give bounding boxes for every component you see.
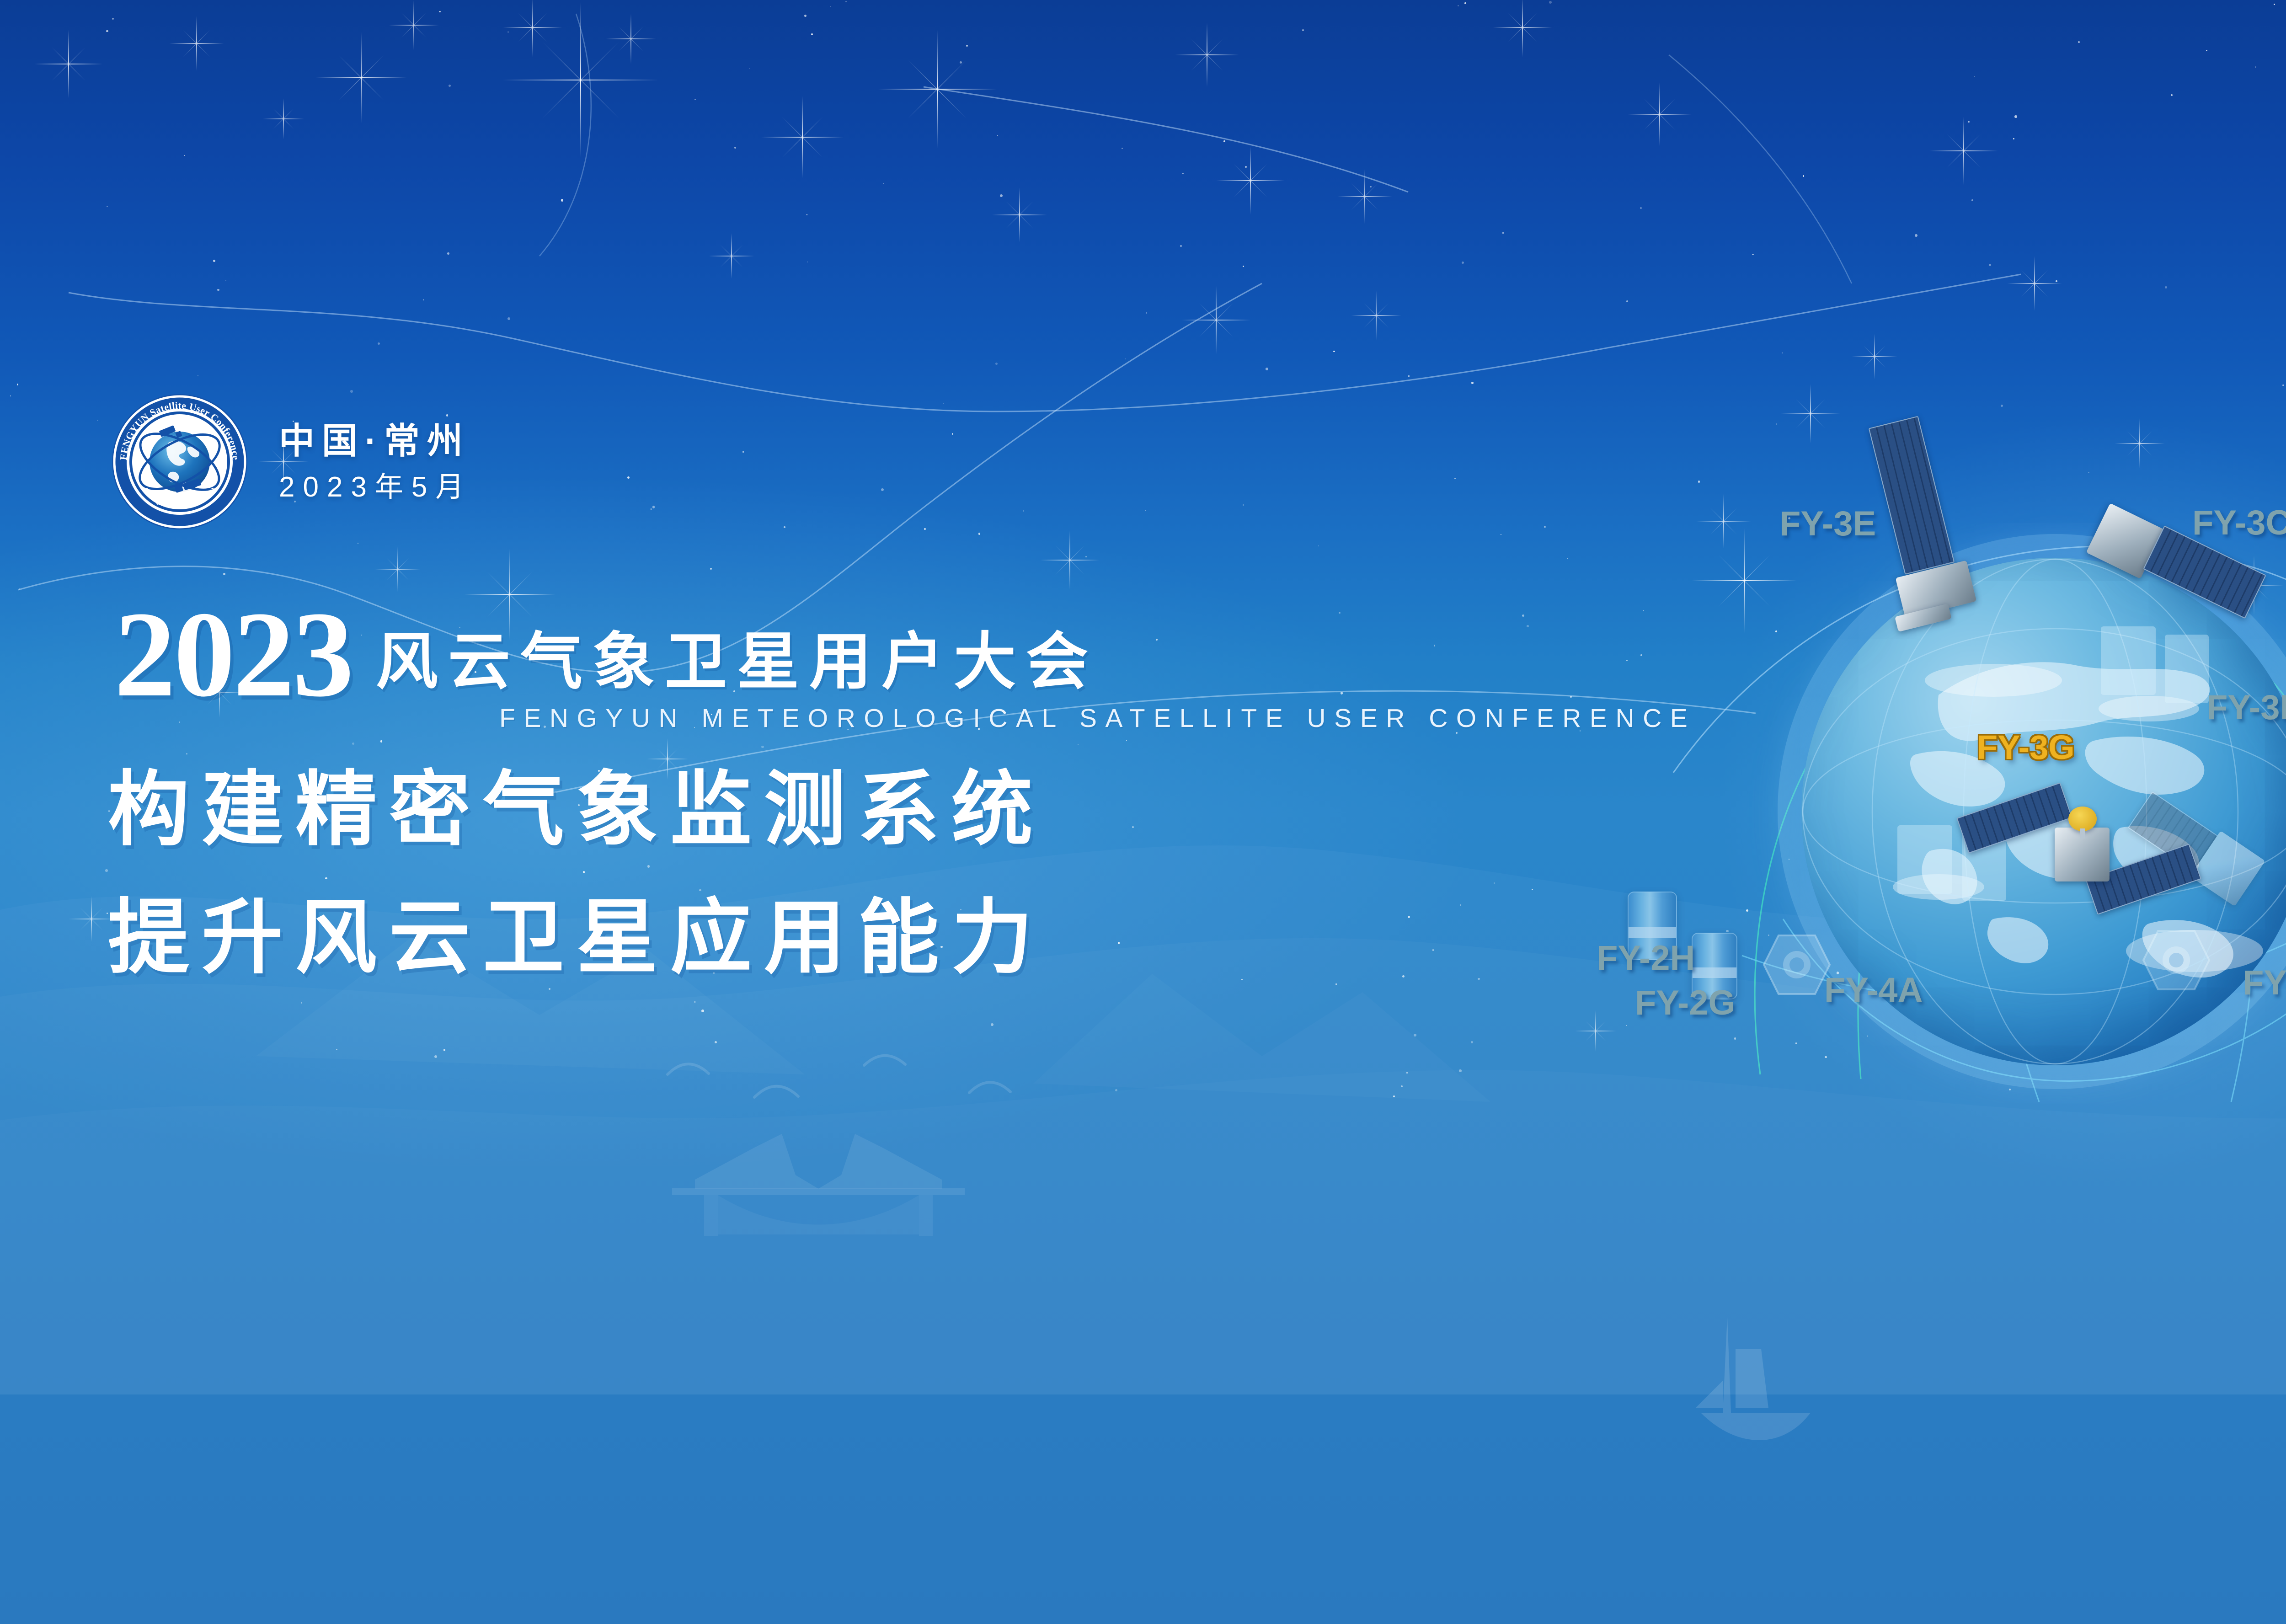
star-dot [223,573,225,575]
star-sparkle [1575,1010,1616,1052]
birds-watermark [649,1033,1061,1125]
star-dot [1318,545,1319,546]
star-sparkle [375,546,421,592]
star-dot [924,528,926,530]
satellite-label-fy-4a: FY-4A [1824,973,1923,1008]
fengyun-emblem-icon: FENGYUN Satellite User Conference Changz… [111,393,248,530]
conference-poster: FENGYUN Satellite User Conference Changz… [0,0,2286,1624]
star-dot [1000,194,1003,197]
star-dot [1752,254,1754,256]
star-sparkle [1337,169,1392,224]
satellite-label-fy-4b: FY-4B [2243,966,2286,1000]
star-dot [1803,175,1804,176]
star-dot [1078,744,1079,745]
star-dot [807,214,807,215]
star-dot [1115,1089,1117,1091]
star-dot [1494,882,1495,884]
star-sparkle [1182,286,1250,354]
star-dot [1968,121,1969,123]
star-dot [380,740,383,743]
star-dot [507,32,508,32]
star-dot [423,299,424,300]
star-dot [2171,94,2173,96]
star-dot [1241,979,1242,980]
star-dot [301,1002,303,1004]
star-dot [350,390,353,393]
star-dot [2206,50,2207,51]
star-dot [198,375,198,376]
star-dot [2282,385,2284,386]
star-dot [1122,148,1123,149]
star-sparkle [1628,82,1692,146]
star-dot [213,260,215,262]
star-dot [507,317,510,320]
star-dot [651,508,652,509]
star-dot [19,588,20,590]
star-dot [1698,481,1700,483]
star-dot [2165,286,2167,288]
satellite-label-fy-3e: FY-3E [1779,507,1876,541]
star-dot [1544,526,1545,528]
star-dot [1915,234,1917,237]
star-dot [1223,140,1225,142]
star-dot [1245,166,1247,168]
star-dot [434,1055,437,1058]
star-sparkle [1040,530,1100,590]
star-dot [447,252,449,255]
star-dot [1640,654,1642,656]
star-dot [1522,614,1524,617]
star-dot [1406,1072,1408,1074]
star-dot [652,506,655,508]
star-sparkle [263,98,304,139]
star-dot [186,753,187,754]
star-sparkle [169,16,224,71]
star-dot [845,1,847,2]
star-dot [1464,2,1466,4]
star-dot [1023,510,1024,512]
star-dot [804,15,807,17]
star-dot [1243,266,1244,267]
star-dot [1971,199,1973,201]
star-dot [2056,280,2057,282]
star-dot [1370,186,1372,188]
star-dot [449,85,451,87]
star-dot [2255,66,2257,68]
star-dot [997,135,999,136]
star-sparkle [2115,418,2165,469]
star-dot [952,433,954,435]
star-dot [225,280,226,281]
star-sparkle [69,896,114,942]
star-dot [378,342,380,345]
star-dot [112,18,114,20]
star-dot [627,476,630,479]
star-dot [978,533,980,534]
star-dot [1339,612,1340,614]
star-dot [995,363,998,365]
star-dot [1408,375,1410,377]
star-dot [1746,909,1749,912]
star-dot [217,289,219,291]
star-dot [1626,660,1628,662]
satellite-label-fy-3g: FY-3G [1977,731,2075,764]
star-dot [1471,1041,1473,1043]
satellite-fy-3g [1957,791,2195,928]
star-sparkle [2007,256,2062,311]
star-dot [1156,639,1158,641]
star-dot [439,11,441,13]
star-dot [2088,472,2089,474]
star-dot [1643,610,1644,611]
star-dot [1549,1,1552,4]
star-dot [1989,264,1991,266]
star-dot [1125,358,1126,359]
star-dot [1532,889,1533,890]
star-dot [107,206,108,207]
satellite-fy-4b-body [2140,924,2213,997]
star-dot [1471,382,1473,384]
star-sparkle [1852,334,1897,379]
title-english: FENGYUN METEOROLOGICAL SATELLITE USER CO… [499,705,1696,732]
star-dot [1454,478,1456,479]
title-year: 2023 [114,603,352,705]
star-sparkle [1696,494,1751,549]
sailboat-watermark [1646,1298,1843,1495]
star-dot [1333,351,1335,352]
star-dot [701,1010,704,1012]
star-sparkle [761,96,844,178]
star-dot [1302,29,1304,31]
star-dot [1085,556,1087,558]
star-dot [710,568,712,570]
star-dot [647,865,650,867]
star-dot [184,155,185,156]
star-dot [1434,645,1436,646]
star-dot [749,68,750,69]
star-dot [807,262,808,262]
satellite-label-fy-3c: FY-3C [2192,506,2286,540]
star-dot [358,543,358,544]
star-dot [1393,1095,1395,1097]
star-dot [1341,692,1343,694]
star-dot [1146,312,1147,313]
star-dot [881,488,884,491]
star-dot [1462,262,1464,264]
star-dot [699,889,701,892]
star-dot [1243,504,1244,506]
star-sparkle [1781,384,1840,443]
conference-logo: FENGYUN Satellite User Conference Changz… [111,393,248,530]
star-dot [105,869,107,871]
star-dot [1414,1034,1416,1036]
star-dot [1974,76,1975,77]
star-sparkle [315,32,407,123]
star-dot [715,1041,717,1043]
star-dot [1402,975,1405,978]
location-block: 中国·常州 2023年5月 [279,423,472,502]
star-sparkle [1929,117,1998,185]
satellite-fy-4a-body [1760,928,1833,1001]
star-dot [694,1001,696,1003]
star-dot [1459,1069,1461,1072]
star-dot [1266,368,1268,370]
star-sparkle [606,14,656,64]
star-dot [336,1049,337,1050]
slogan-line-2: 提升风云卫星应用能力 [108,897,1045,978]
star-dot [549,988,550,990]
star-dot [1408,916,1410,918]
star-sparkle [503,0,562,57]
star-dot [2078,41,2080,43]
star-dot [1118,942,1120,944]
title-chinese: 风云气象卫星用户大会 [376,630,1098,705]
star-dot [1782,353,1783,353]
star-dot [742,451,743,452]
star-dot [960,61,962,64]
star-dot [694,99,696,100]
star-dot [1501,534,1501,535]
star-dot [1626,1025,1627,1026]
star-sparkle [1493,0,1552,57]
star-dot [1776,423,1778,425]
star-sparkle [878,30,997,149]
star-dot [97,420,98,421]
star-sparkle [34,30,103,98]
star-dot [883,183,884,184]
star-sparkle [503,2,658,158]
star-dot [1478,978,1480,980]
star-dot [1775,630,1777,632]
satellite-label-fy-3d: FY-3D [2206,690,2286,725]
star-sparkle [389,0,439,50]
location-date: 2023年5月 [279,473,472,502]
star-sparkle [1175,23,1239,87]
star-dot [966,45,967,46]
star-dot [325,877,327,879]
star-dot [1527,625,1528,627]
star-dot [2274,4,2275,5]
slogan-line-1: 构建精密气象监测系统 [108,769,1045,850]
star-dot [943,403,944,404]
star-dot [10,395,11,396]
title-row: 2023 风云气象卫星用户大会 [114,603,1098,705]
star-dot [1132,826,1134,828]
star-dot [1570,696,1572,698]
star-dot [1460,904,1461,905]
star-dot [1726,930,1728,932]
satellite-label-fy-2h: FY-2H [1597,941,1695,976]
star-dot [761,746,764,748]
star-dot [1640,207,1642,209]
star-dot [2013,138,2014,139]
star-dot [2009,1089,2011,1090]
star-dot [443,1049,446,1051]
star-dot [1567,558,1568,560]
star-dot [1432,949,1434,951]
star-dot [1145,510,1146,511]
star-dot [1182,173,1183,174]
landmark-watermark [645,1120,992,1257]
star-dot [1180,245,1182,247]
satellite-label-fy-2g: FY-2G [1635,986,1736,1020]
star-dot [561,199,563,201]
star-dot [991,1023,993,1026]
star-dot [734,147,736,149]
star-sparkle [1216,146,1285,215]
location-city: 中国·常州 [279,423,472,459]
star-dot [1126,740,1127,741]
star-dot [1734,1037,1736,1039]
star-sparkle [1351,290,1401,341]
star-dot [1335,983,1337,985]
star-dot [1458,5,1459,6]
star-dot [1502,232,1504,234]
star-dot [1795,1042,1797,1044]
star-sparkle [1692,528,1797,633]
star-dot [1401,1085,1403,1087]
star-sparkle [992,187,1047,242]
star-sparkle [709,233,754,279]
star-dot [784,526,785,528]
star-dot [2001,405,2003,407]
star-dot [2014,115,2017,118]
star-dot [352,743,354,745]
star-dot [446,414,449,417]
star-dot [106,30,108,32]
satellite-dish-icon [2068,807,2097,831]
star-dot [1626,300,1628,302]
star-dot [811,33,813,35]
star-dot [830,6,831,7]
star-dot [583,871,585,873]
star-dot [17,384,19,385]
